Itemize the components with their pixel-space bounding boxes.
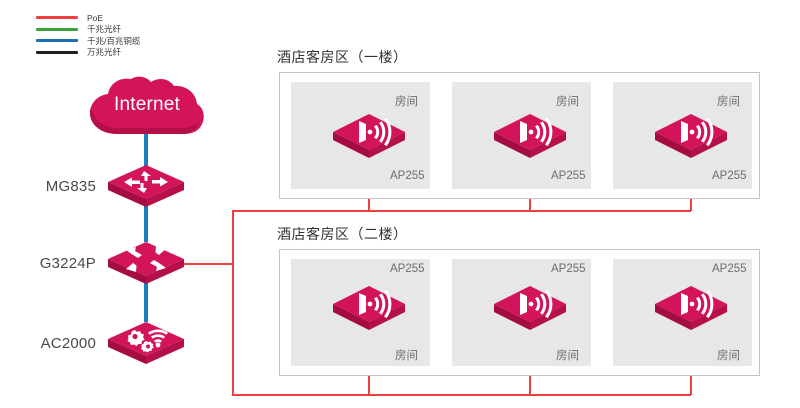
poe-trunk-switch-stub	[180, 263, 234, 265]
legend-swatch-copper	[36, 39, 78, 42]
access-point-icon	[652, 284, 730, 334]
floor-1-ap-1	[330, 112, 408, 167]
access-point-icon	[330, 284, 408, 334]
legend-item-gigabit-fiber: 千兆光纤	[36, 24, 140, 36]
access-point-icon	[652, 112, 730, 162]
device-label-g3224p: G3224P	[0, 255, 96, 272]
poe-bus-floor-2	[232, 394, 691, 396]
router-icon	[104, 163, 188, 211]
floor-2-room-1-ap-label: AP255	[390, 263, 425, 275]
floor-2-room-2-ap-label: AP255	[551, 263, 586, 275]
wireless-controller-icon	[104, 320, 188, 368]
floor-2-title: 酒店客房区（二楼）	[277, 224, 408, 244]
internet-cloud: Internet	[88, 76, 206, 138]
floor-1-room-2-label: 房间	[556, 93, 579, 109]
legend-label-gigabit-fiber: 千兆光纤	[87, 25, 121, 34]
floor-2-ap-2	[491, 284, 569, 339]
device-label-ac2000: AC2000	[0, 335, 96, 352]
floor-1-room-3-ap-label: AP255	[712, 170, 747, 182]
floor-2-room-3-ap-label: AP255	[712, 263, 747, 275]
legend-swatch-poe	[36, 16, 78, 19]
access-point-icon	[491, 284, 569, 334]
legend-swatch-gigabit-fiber	[36, 28, 78, 31]
floor-1-room-2-ap-label: AP255	[551, 170, 586, 182]
internet-cloud-label: Internet	[88, 76, 206, 138]
floor-1-room-1-ap-label: AP255	[390, 170, 425, 182]
floor-1-ap-3	[652, 112, 730, 167]
device-ac2000	[104, 320, 188, 368]
floor-1-ap-2	[491, 112, 569, 167]
legend-swatch-ten-gigabit-fiber	[36, 51, 78, 54]
legend: PoE 千兆光纤 千兆/百兆铜缆 万兆光纤	[36, 12, 140, 58]
floor-2-room-2-label: 房间	[556, 347, 579, 363]
access-point-icon	[330, 112, 408, 162]
floor-1-room-3-label: 房间	[717, 93, 740, 109]
floor-1-title: 酒店客房区（一楼）	[277, 47, 408, 67]
access-point-icon	[491, 112, 569, 162]
legend-label-copper: 千兆/百兆铜缆	[87, 37, 140, 46]
poe-bus-floor-1	[232, 210, 691, 212]
switch-icon	[104, 240, 188, 288]
floor-2-room-3-label: 房间	[717, 347, 740, 363]
legend-item-poe: PoE	[36, 12, 140, 24]
device-g3224p	[104, 240, 188, 288]
legend-label-ten-gigabit-fiber: 万兆光纤	[87, 48, 121, 57]
legend-label-poe: PoE	[87, 14, 103, 23]
poe-trunk-riser	[232, 210, 234, 396]
network-topology-diagram: PoE 千兆光纤 千兆/百兆铜缆 万兆光纤 I	[0, 0, 800, 408]
legend-item-ten-gigabit-fiber: 万兆光纤	[36, 47, 140, 59]
legend-item-copper: 千兆/百兆铜缆	[36, 35, 140, 47]
floor-2-ap-1	[330, 284, 408, 339]
floor-2-ap-3	[652, 284, 730, 339]
device-mg835	[104, 163, 188, 211]
floor-1-room-1-label: 房间	[395, 93, 418, 109]
device-label-mg835: MG835	[0, 178, 96, 195]
floor-2-room-1-label: 房间	[395, 347, 418, 363]
